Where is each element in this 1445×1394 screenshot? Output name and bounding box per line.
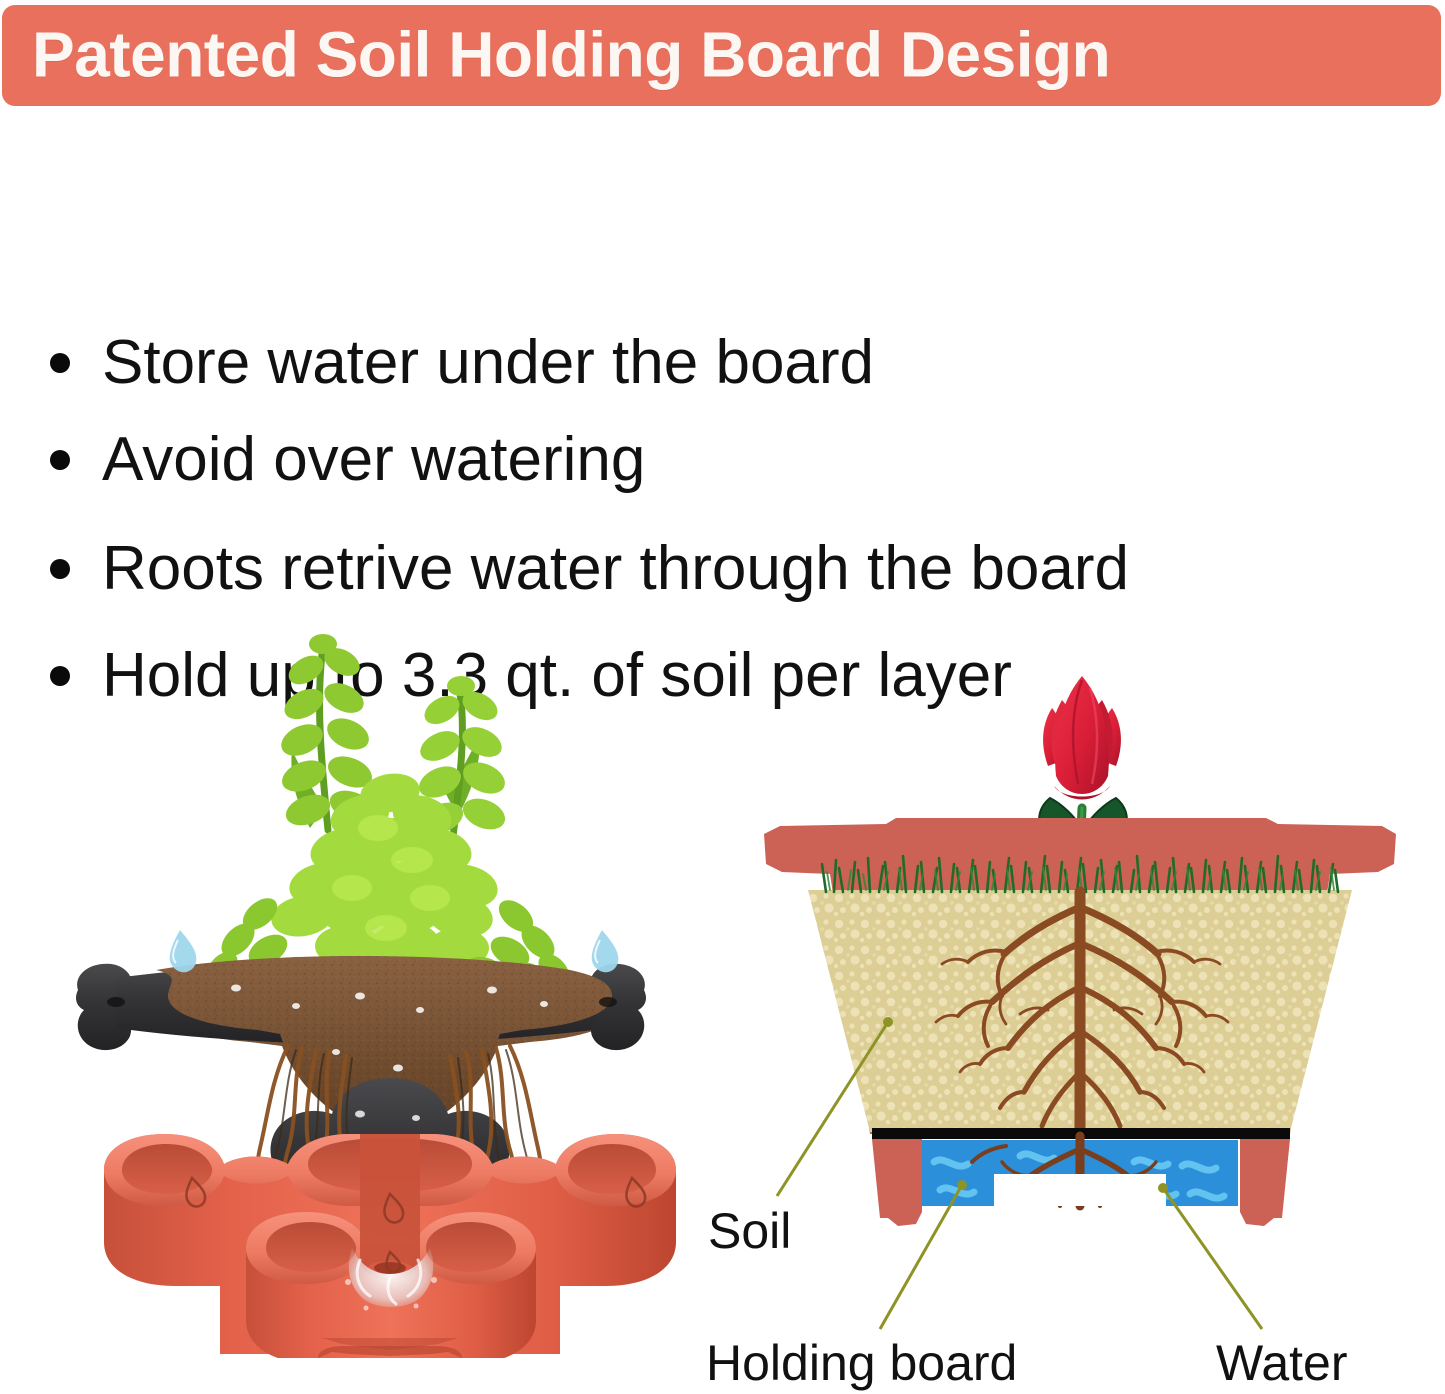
figures-area (0, 548, 1445, 1394)
header-banner: Patented Soil Holding Board Design (2, 5, 1441, 106)
callout-label-water: Water (1216, 1338, 1348, 1388)
list-item: Store water under the board (50, 328, 874, 398)
list-item-label: Store water under the board (102, 332, 874, 394)
plant-foliage (200, 634, 575, 1000)
feature-bullet-list: Store water under the board Avoid over w… (0, 160, 1445, 560)
list-item-label: Avoid over watering (102, 429, 645, 491)
bullet-dot-icon (50, 353, 70, 373)
callout-label-soil: Soil (708, 1206, 791, 1256)
pot-cross-section-diagram (730, 658, 1430, 1358)
rose-bloom (1043, 676, 1121, 800)
bullet-dot-icon (50, 450, 70, 470)
stackable-planter (104, 1134, 676, 1358)
callout-label-holding-board: Holding board (706, 1338, 1017, 1388)
list-item: Avoid over watering (50, 425, 645, 495)
stackable-planter-photo (60, 558, 720, 1358)
pot-cross-section (764, 818, 1396, 1226)
page-title: Patented Soil Holding Board Design (32, 17, 1110, 91)
